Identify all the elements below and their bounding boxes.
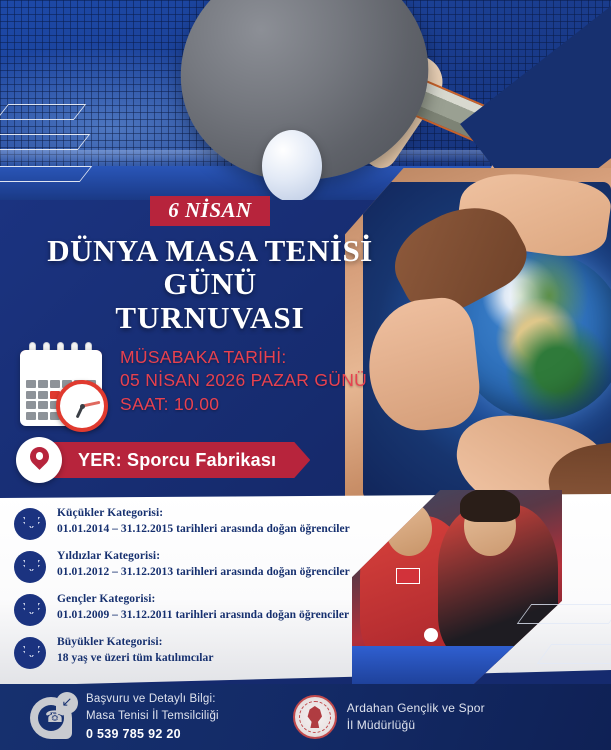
venue-bar: YER: Sporcu Fabrikası <box>38 442 310 478</box>
category-desc: 01.01.2009 – 31.12.2011 tarihleri arasın… <box>57 608 349 624</box>
double-chevron-check-icon <box>14 508 46 540</box>
footer-bar: ☎ ↙ Başvuru ve Detaylı Bilgi: Masa Tenis… <box>0 684 611 750</box>
contact-text: Başvuru ve Detaylı Bilgi: Masa Tenisi İl… <box>86 691 219 742</box>
category-title: Yıldızlar Kategorisi: <box>57 549 350 565</box>
category-title: Küçükler Kategorisi: <box>57 506 350 522</box>
organization-block: Ardahan Gençlik ve Spor İl Müdürlüğü <box>293 695 485 739</box>
ping-pong-ball-icon <box>262 130 322 202</box>
list-item: Küçükler Kategorisi: 01.01.2014 – 31.12.… <box>14 506 364 540</box>
category-desc: 01.01.2012 – 31.12.2013 tarihleri arasın… <box>57 565 350 581</box>
player-hair <box>460 490 520 522</box>
category-title: Büyükler Kategorisi: <box>57 635 214 651</box>
contact-line-1: Başvuru ve Detaylı Bilgi: <box>86 691 219 708</box>
contact-phone-number[interactable]: 0 539 785 92 20 <box>86 725 219 743</box>
contact-line-2: Masa Tenisi İl Temsilciliği <box>86 708 219 725</box>
event-date-value: 05 NİSAN 2026 PAZAR GÜNÜ <box>120 369 367 392</box>
turkish-flag-icon <box>396 568 420 584</box>
organization-line-1: Ardahan Gençlik ve Spor <box>347 700 485 717</box>
ministry-emblem-icon <box>293 695 337 739</box>
date-chip: 6 NİSAN <box>150 196 269 226</box>
poster-root: 6 NİSAN DÜNYA MASA TENİSİ GÜNÜ TURNUVASI <box>0 0 611 750</box>
list-item: Büyükler Kategorisi: 18 yaş ve üzeri tüm… <box>14 635 364 669</box>
title-block: 6 NİSAN DÜNYA MASA TENİSİ GÜNÜ TURNUVASI <box>0 196 420 336</box>
event-date-label: MÜSABAKA TARİHİ: <box>120 346 367 369</box>
venue-banner: YER: Sporcu Fabrikası <box>16 437 310 483</box>
event-datetime-row: MÜSABAKA TARİHİ: 05 NİSAN 2026 PAZAR GÜN… <box>14 342 394 430</box>
page-title: DÜNYA MASA TENİSİ GÜNÜ <box>0 234 420 301</box>
map-pin-icon <box>16 437 62 483</box>
organization-text: Ardahan Gençlik ve Spor İl Müdürlüğü <box>347 700 485 735</box>
double-chevron-check-icon <box>14 594 46 626</box>
event-datetime-text: MÜSABAKA TARİHİ: 05 NİSAN 2026 PAZAR GÜN… <box>120 342 367 416</box>
category-desc: 18 yaş ve üzeri tüm katılımcılar <box>57 651 214 667</box>
venue-label: YER: Sporcu Fabrikası <box>78 450 276 471</box>
phone-call-icon: ☎ ↙ <box>30 694 76 740</box>
category-desc: 01.01.2014 – 31.12.2015 tarihleri arasın… <box>57 522 350 538</box>
page-subtitle: TURNUVASI <box>0 301 420 336</box>
calendar-clock-icon <box>14 342 106 430</box>
list-item: Gençler Kategorisi: 01.01.2009 – 31.12.2… <box>14 592 364 626</box>
clock-icon <box>56 380 108 432</box>
category-title: Gençler Kategorisi: <box>57 592 349 608</box>
ping-pong-ball-icon <box>424 628 438 642</box>
contact-block: ☎ ↙ Başvuru ve Detaylı Bilgi: Masa Tenis… <box>30 691 219 742</box>
organization-line-2: İl Müdürlüğü <box>347 717 485 734</box>
double-chevron-check-icon <box>14 551 46 583</box>
event-time-value: SAAT: 10.00 <box>120 393 367 416</box>
list-item: Yıldızlar Kategorisi: 01.01.2012 – 31.12… <box>14 549 364 583</box>
categories-list: Küçükler Kategorisi: 01.01.2014 – 31.12.… <box>14 506 364 678</box>
double-chevron-check-icon <box>14 637 46 669</box>
